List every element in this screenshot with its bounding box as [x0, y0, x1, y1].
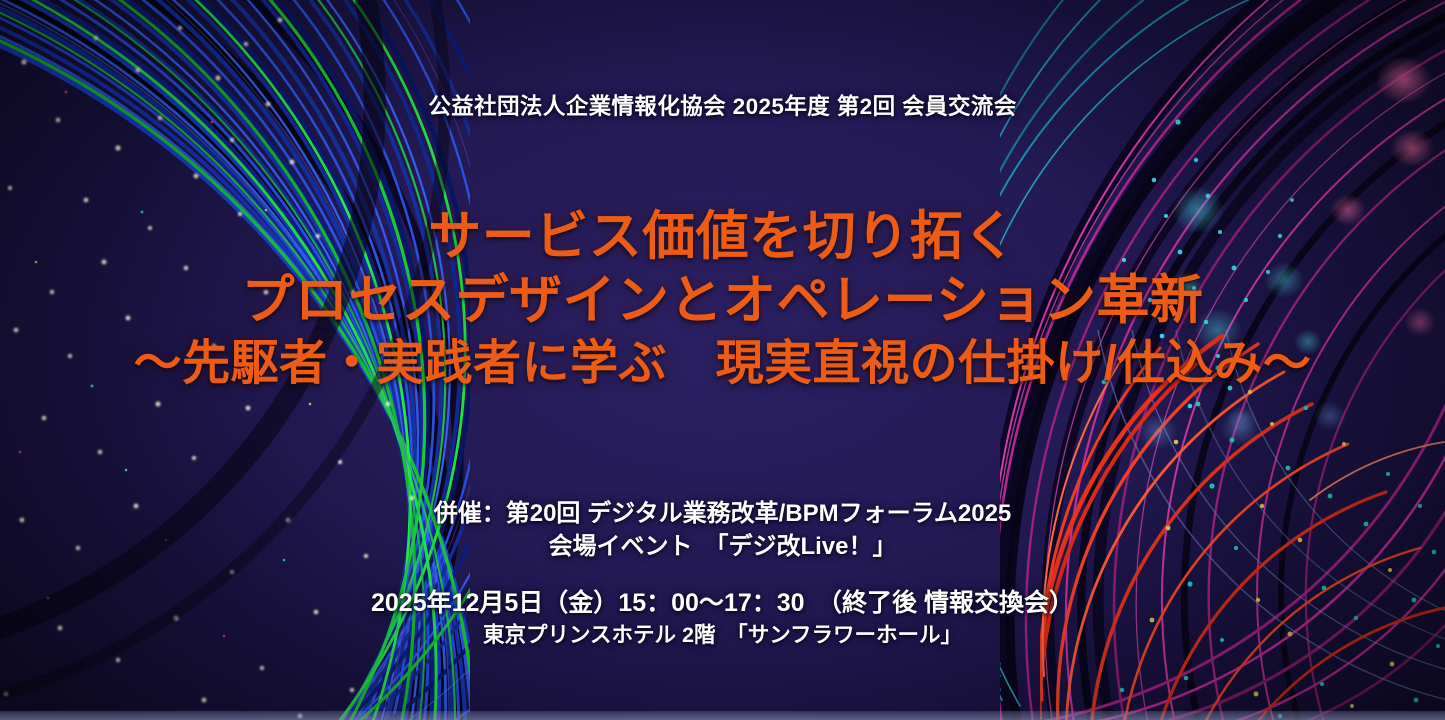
text-layer: 公益社団法人企業情報化協会 2025年度 第2回 会員交流会 サービス価値を切り…	[0, 0, 1445, 720]
co-host-line-2: 会場イベント 「デジ改Live！」	[0, 530, 1445, 563]
schedule-block: 2025年12月5日（金）15：00～17：30 （終了後 情報交換会） 東京プ…	[0, 586, 1445, 650]
title-line-1: サービス価値を切り拓く	[0, 206, 1445, 268]
title-line-2: プロセスデザインとオペレーション革新	[0, 268, 1445, 334]
title-line-3: ～先駆者・実践者に学ぶ 現実直視の仕掛け/仕込み～	[0, 333, 1445, 395]
schedule-venue: 東京プリンスホテル 2階 「サンフラワーホール」	[0, 620, 1445, 650]
co-host-block: 併催：第20回 デジタル業務改革/BPMフォーラム2025 会場イベント 「デジ…	[0, 498, 1445, 563]
organizer-kicker: 公益社団法人企業情報化協会 2025年度 第2回 会員交流会	[0, 89, 1445, 121]
event-banner: 公益社団法人企業情報化協会 2025年度 第2回 会員交流会 サービス価値を切り…	[0, 0, 1445, 720]
co-host-line-1: 併催：第20回 デジタル業務改革/BPMフォーラム2025	[0, 498, 1445, 530]
schedule-datetime: 2025年12月5日（金）15：00～17：30 （終了後 情報交換会）	[0, 586, 1445, 620]
main-title: サービス価値を切り拓く プロセスデザインとオペレーション革新 ～先駆者・実践者に…	[0, 206, 1445, 395]
